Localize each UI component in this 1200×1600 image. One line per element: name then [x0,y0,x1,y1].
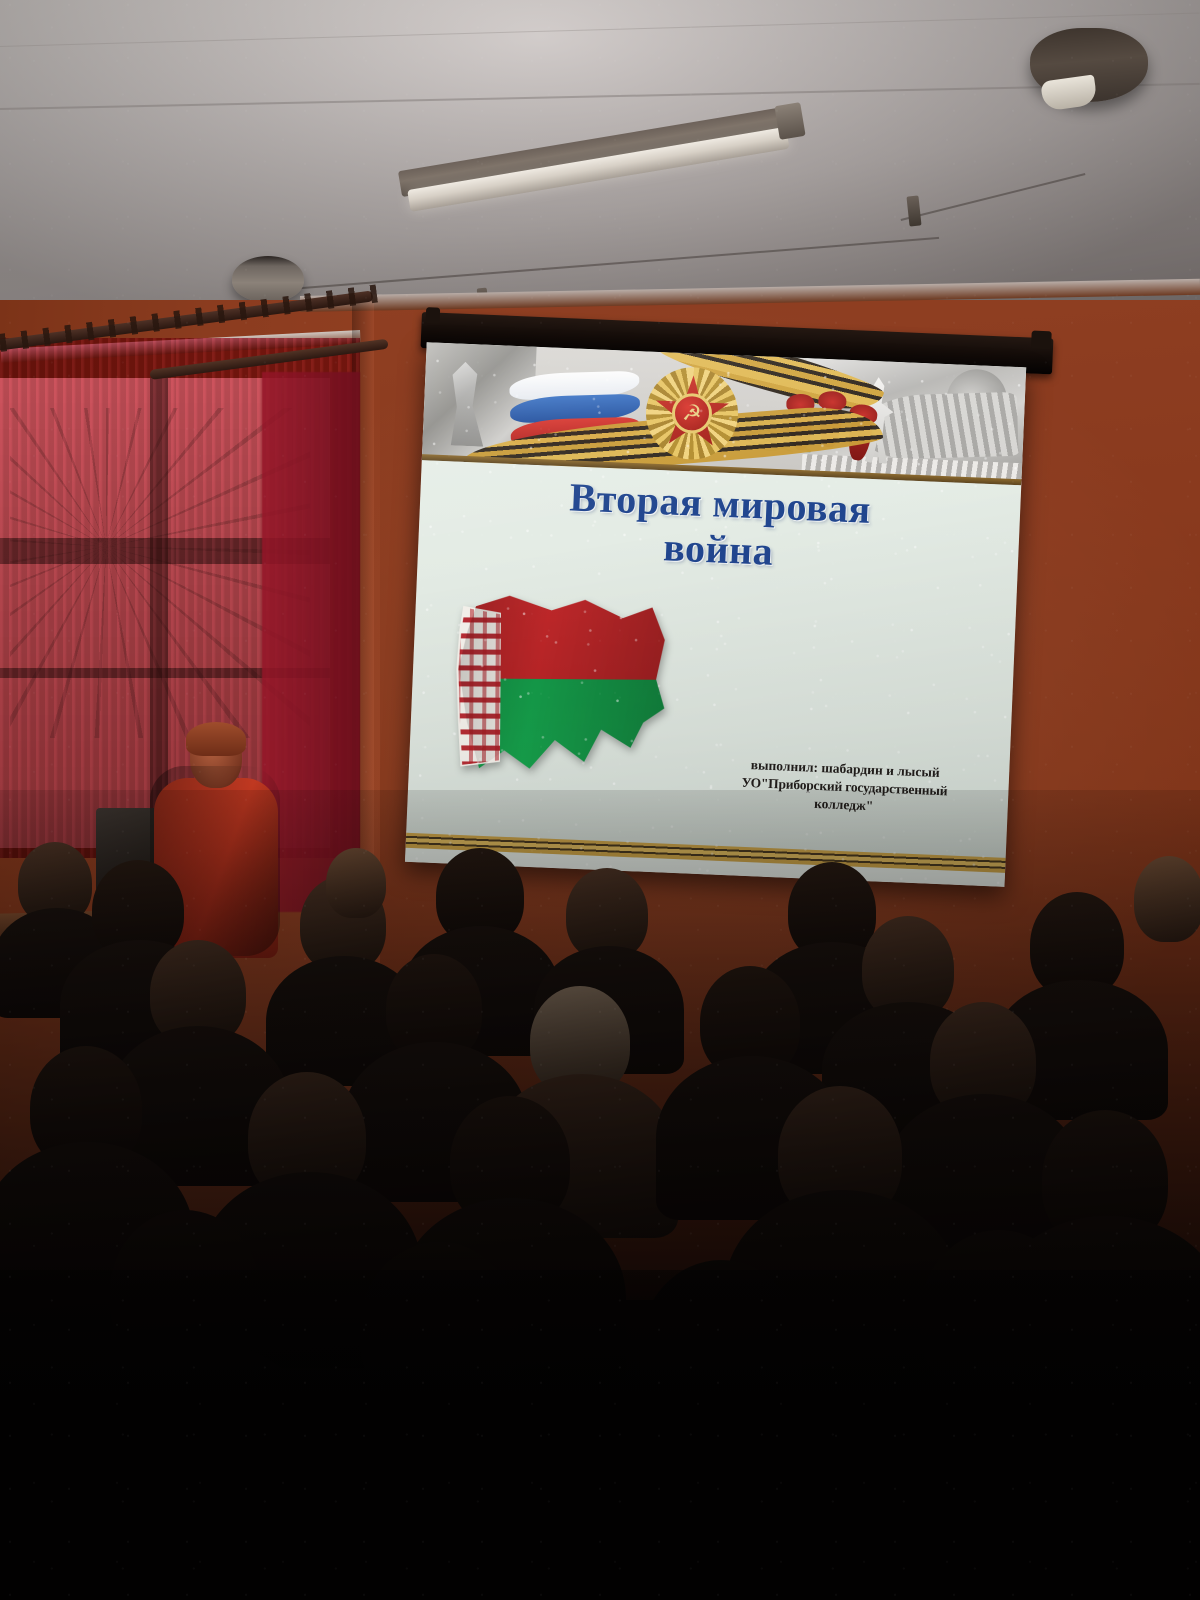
belarus-flag-shading [454,595,665,776]
fluorescent-end-cap [774,102,805,140]
hammer-and-sickle-icon: ☭ [678,400,705,427]
memorial-drape [867,392,1019,460]
slide-header-band: ☭ [422,342,1026,485]
audience-head [1134,856,1200,942]
screen-case-bracket-left [426,307,441,324]
classroom-presentation-photo: ☭ Вторая мировая война выполнил: шабарди… [0,0,1200,1600]
belarus-flag-icon [454,595,665,776]
foreground-shadow [0,1270,1200,1600]
order-of-patriotic-war-medal-icon: ☭ [644,366,740,462]
screen-case-bracket-right [1031,331,1052,350]
slide-title: Вторая мировая война [418,468,1021,586]
presenter-hair [186,722,246,756]
audience-head [326,848,386,918]
